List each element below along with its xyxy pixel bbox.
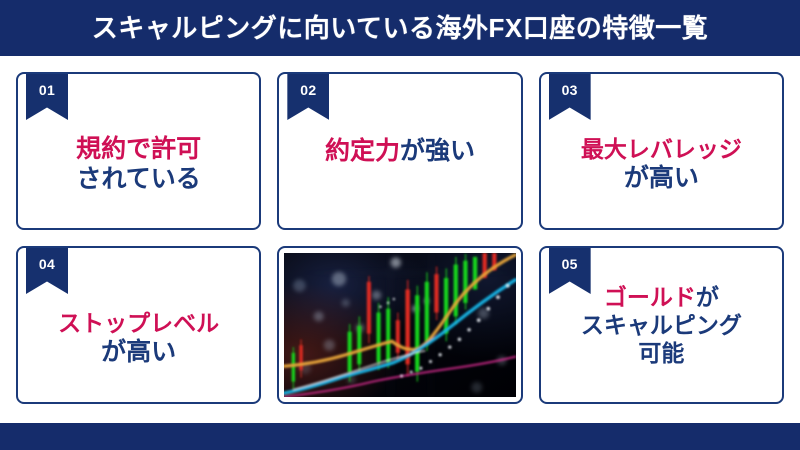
navy-text: が高い bbox=[624, 164, 699, 192]
feature-card-05[interactable]: 05 ゴールドが スキャルピング 可能 bbox=[539, 246, 784, 404]
navy-text: されている bbox=[77, 165, 201, 193]
accent-text: 規約で許可 bbox=[76, 135, 201, 163]
feature-card-04-line-1: ストップレベル bbox=[58, 309, 219, 337]
accent-text: ゴールド bbox=[604, 284, 696, 310]
feature-card-04[interactable]: 04 ストップレベル が高い bbox=[16, 246, 261, 404]
navy-text: が強い bbox=[400, 137, 475, 165]
accent-text: 最大レバレッジ bbox=[581, 136, 742, 162]
candlestick-chart-graphic bbox=[284, 253, 515, 397]
navy-text: 可能 bbox=[638, 340, 684, 366]
feature-card-04-text: ストップレベル が高い bbox=[18, 248, 259, 402]
feature-card-04-line-2: が高い bbox=[101, 337, 176, 368]
candlestick-chart-photo-card bbox=[277, 246, 522, 404]
feature-card-01-line-1: 規約で許可 bbox=[76, 134, 201, 165]
feature-card-01-line-2: されている bbox=[77, 164, 201, 195]
header-bar: スキャルピングに向いている海外FX口座の特徴一覧 bbox=[0, 0, 800, 56]
feature-card-05-line-1: ゴールドが bbox=[604, 283, 719, 311]
accent-text: ストップレベル bbox=[58, 310, 219, 336]
footer-bar bbox=[0, 423, 800, 450]
feature-card-02-text: 約定力が強い bbox=[279, 74, 520, 228]
feature-card-02-line-1: 約定力が強い bbox=[325, 136, 475, 167]
feature-card-03-line-1: 最大レバレッジ bbox=[581, 135, 742, 163]
feature-card-02[interactable]: 02 約定力が強い bbox=[277, 72, 522, 230]
feature-card-01-text: 規約で許可 されている bbox=[18, 74, 259, 228]
feature-card-03[interactable]: 03 最大レバレッジ が高い bbox=[539, 72, 784, 230]
feature-card-01[interactable]: 01 規約で許可 されている bbox=[16, 72, 261, 230]
feature-card-03-text: 最大レバレッジ が高い bbox=[541, 74, 782, 228]
accent-text: 約定力 bbox=[325, 137, 400, 165]
feature-card-05-line-2: スキャルピング bbox=[581, 311, 742, 339]
feature-card-03-line-2: が高い bbox=[624, 163, 699, 194]
page-title: スキャルピングに向いている海外FX口座の特徴一覧 bbox=[92, 15, 708, 41]
navy-text: が高い bbox=[101, 338, 176, 366]
navy-text: スキャルピング bbox=[581, 312, 742, 338]
feature-cards-grid: 01 規約で許可 されている 02 約定力が強い 03 最大レバレッジ bbox=[16, 72, 784, 410]
feature-card-05-line-3: 可能 bbox=[638, 339, 684, 367]
candlestick-chart-photo bbox=[284, 253, 515, 397]
navy-text: が bbox=[696, 284, 719, 310]
feature-card-05-text: ゴールドが スキャルピング 可能 bbox=[541, 248, 782, 402]
